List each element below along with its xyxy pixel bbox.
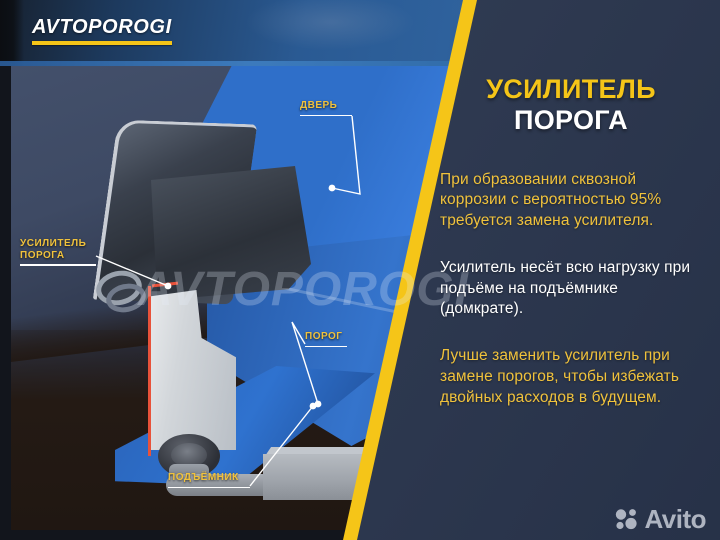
- callout-sill-rule: [305, 346, 347, 348]
- callout-reinforcement-label: УСИЛИТЕЛЬ ПОРОГА: [20, 238, 96, 261]
- callout-reinforcement-rule: [20, 264, 96, 266]
- callout-door-rule: [300, 115, 352, 117]
- infographic-canvas: AVTOPOROGI AVTOPOROGI: [0, 0, 720, 540]
- avito-wordmark: Avito: [644, 506, 706, 532]
- callout-lift-label: ПОДЪЁМНИК: [168, 472, 250, 484]
- paragraph-load: Усилитель несёт всю нагрузку при подъёме…: [440, 258, 702, 320]
- avito-logo-icon: [614, 507, 640, 531]
- callout-door: ДВЕРЬ: [300, 100, 352, 116]
- paragraph-advice: Лучше заменить усилитель при замене поро…: [440, 346, 702, 408]
- page-title-line-1: УСИЛИТЕЛЬ: [486, 74, 656, 104]
- page-title-line-2: ПОРОГА: [440, 105, 702, 136]
- callout-sill-label: ПОРОГ: [305, 331, 347, 343]
- avito-watermark: Avito: [614, 506, 706, 532]
- callout-door-label: ДВЕРЬ: [300, 100, 352, 112]
- page-title: УСИЛИТЕЛЬ ПОРОГА: [440, 74, 702, 136]
- callout-lift-rule: [168, 487, 250, 489]
- paragraph-corrosion: При образовании сквозной коррозии с веро…: [440, 170, 702, 232]
- text-panel-content: УСИЛИТЕЛЬ ПОРОГА При образовании сквозно…: [440, 74, 702, 408]
- callout-lift: ПОДЪЁМНИК: [168, 472, 250, 488]
- callout-sill: ПОРОГ: [305, 331, 347, 347]
- callout-reinforcement: УСИЛИТЕЛЬ ПОРОГА: [20, 238, 96, 266]
